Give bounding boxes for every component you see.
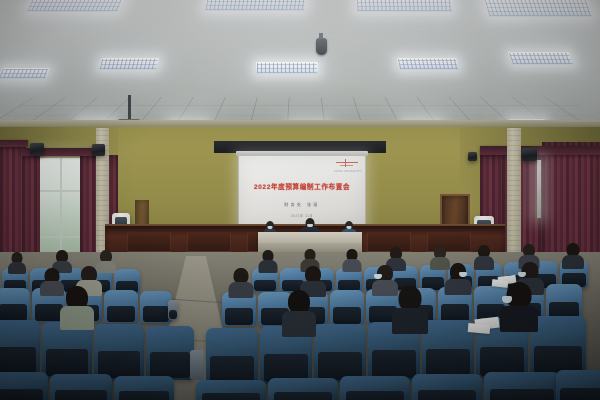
slide-subtitle: 财务处 张丽 [238,202,366,208]
face-mask-icon [502,296,512,303]
face-mask-icon [459,272,467,277]
seat[interactable] [268,378,338,400]
attendee [258,250,277,271]
stage-wall-panel [187,232,231,252]
seat[interactable] [412,374,482,400]
attendee [392,286,428,330]
seat[interactable] [114,376,174,400]
seat-armrest [190,350,204,380]
attendee-torso [474,256,494,270]
seat[interactable] [0,372,48,400]
slide-logo-text: CHINA UNIVERSITY [334,170,360,173]
stage-wall-panel [127,232,171,252]
slide-title: 2022年度预算编制工作布置会 [238,181,366,191]
seat[interactable] [42,322,92,378]
seat[interactable] [556,370,600,400]
attendee [228,268,253,296]
pillar-right [507,128,521,256]
wall-cornice [0,120,600,127]
seat[interactable] [104,290,138,323]
attendee [60,286,94,326]
curtain-right-near [542,142,600,256]
curtain-valance [480,146,600,155]
seat[interactable] [50,374,112,400]
wall-speaker-icon [522,148,537,161]
attendee [562,243,584,268]
seat[interactable] [530,316,586,378]
window-right-sliver [537,160,541,218]
attendee [474,245,494,269]
seat[interactable] [146,326,194,380]
attendee-torso [562,255,584,269]
conference-room-photo: CHINA UNIVERSITY 2022年度预算编制工作布置会 财务处 张丽 … [0,0,600,400]
seat[interactable] [94,324,144,380]
window-mullion [60,158,62,254]
attendee-torso [282,311,316,337]
seat[interactable] [0,288,30,322]
attendee-torso [444,279,471,295]
seat[interactable] [330,290,364,325]
attendee [500,282,538,328]
attendee-torso [342,259,361,272]
attendee-torso [500,306,538,332]
attendee [342,249,361,271]
wall-speaker-icon [30,143,44,155]
attendee-torso [258,260,277,273]
attendee-torso [8,262,26,274]
attendee-torso [392,308,428,334]
attendee-torso [60,306,94,330]
attendee-torso [228,282,253,298]
seat[interactable] [422,320,474,380]
seat-armrest [168,300,178,320]
attendee [444,263,471,293]
window-transom [38,190,82,192]
seat[interactable] [206,328,258,386]
document-paper [468,323,491,334]
pillar-texture [507,128,521,256]
slide-logo-icon: CHINA UNIVERSITY [334,159,360,173]
seat[interactable] [0,320,40,376]
curtain-left-near [22,150,40,256]
wall-speaker-icon [92,144,105,156]
seat[interactable] [314,324,366,382]
attendee [8,252,26,272]
curtain-valance [0,140,28,147]
wall-speaker-icon [468,152,477,161]
window-transom [38,236,82,238]
attendee [282,290,316,332]
seat[interactable] [484,372,560,400]
seat[interactable] [340,376,410,400]
seat[interactable] [196,380,266,400]
